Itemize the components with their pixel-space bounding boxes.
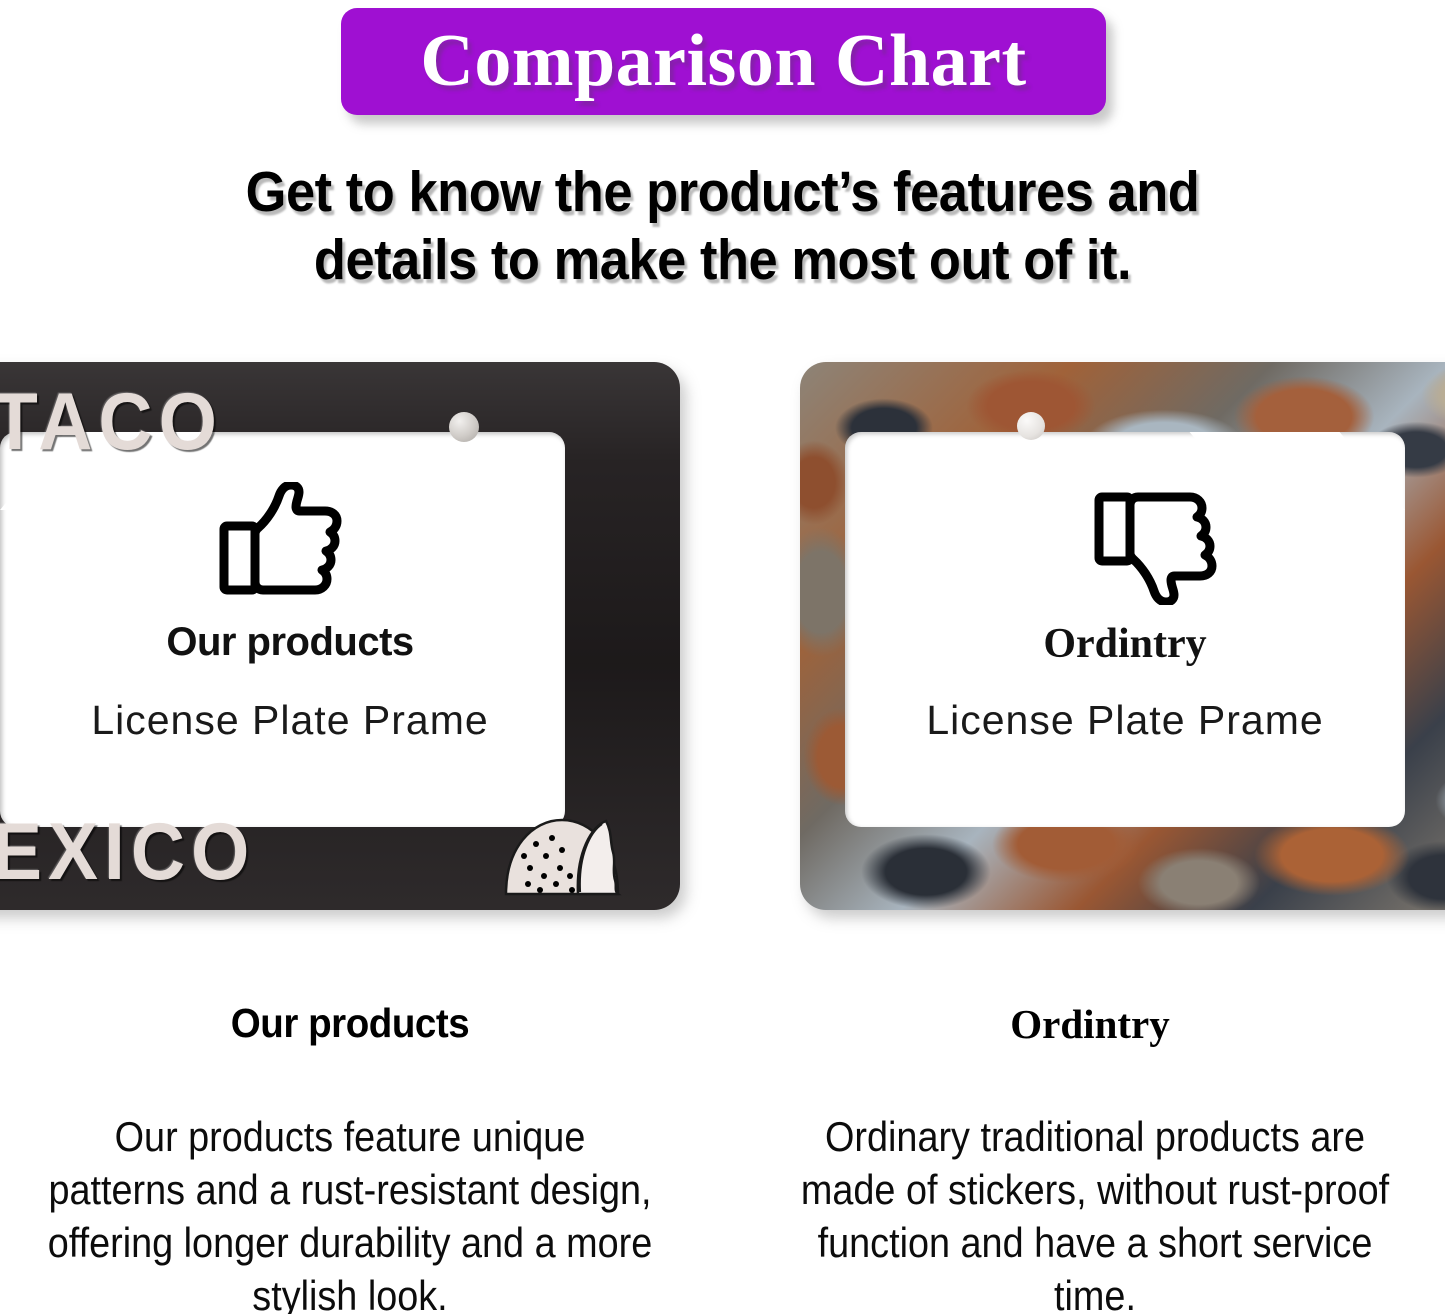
screw-hole-icon: [449, 412, 479, 442]
frame-label-main-left: Our products: [0, 620, 580, 665]
title-banner: Comparison Chart: [341, 8, 1106, 115]
plate-text-bottom: EXICO: [0, 805, 255, 898]
column-body-ordinary: Ordinary traditional products are made o…: [789, 1110, 1401, 1314]
taco-icon: [500, 812, 625, 905]
subtitle: Get to know the product’s features and d…: [58, 158, 1387, 294]
thumbs-up-icon: [218, 482, 346, 605]
subtitle-line-2: details to make the most out of it.: [58, 226, 1387, 294]
subtitle-line-1: Get to know the product’s features and: [58, 158, 1387, 226]
page-title: Comparison Chart: [420, 19, 1026, 104]
frame-label-sub-right: License Plate Prame: [845, 697, 1405, 744]
comparison-chart-page: Comparison Chart Get to know the product…: [0, 0, 1445, 1314]
column-body-our-products: Our products feature unique patterns and…: [44, 1110, 656, 1314]
frame-label-sub-left: License Plate Prame: [0, 697, 580, 744]
thumbs-down-icon: [1093, 487, 1221, 610]
screw-hole-icon: [1017, 412, 1045, 440]
column-heading-ordinary: Ordintry: [760, 1000, 1420, 1048]
frame-label-main-right: Ordintry: [845, 620, 1405, 668]
column-heading-our-products: Our products: [40, 1000, 660, 1047]
plate-text-top: TACO: [0, 375, 223, 468]
